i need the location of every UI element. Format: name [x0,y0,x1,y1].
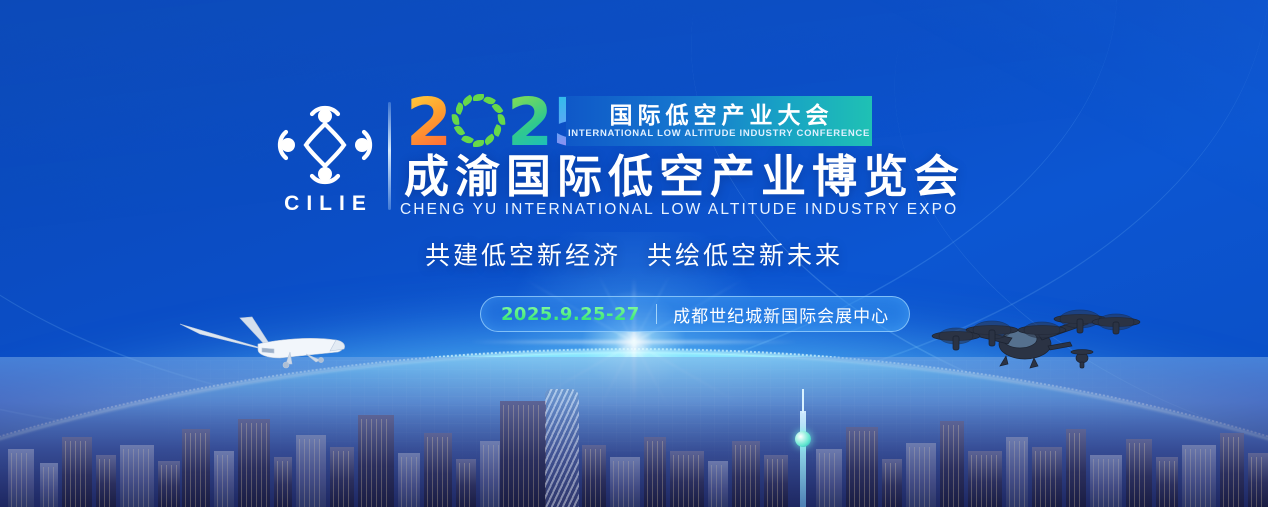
conference-band: 国际低空产业大会 INTERNATIONAL LOW ALTITUDE INDU… [566,96,872,146]
year-digit-3: 2 [507,92,552,154]
conference-title-cn: 国际低空产业大会 [605,102,834,128]
main-title-en: CHENG YU INTERNATIONAL LOW ALTITUDE INDU… [400,200,980,220]
event-banner: CILIE 2 25 国际低空产业大会 INTERNATIONAL L [0,0,1268,507]
year-digit-0-propeller-ring [451,92,507,150]
event-venue: 成都世纪城新国际会展中心 [657,302,889,327]
banner-content: CILIE 2 25 国际低空产业大会 INTERNATIONAL L [0,0,1268,507]
conference-title-en: INTERNATIONAL LOW ALTITUDE INDUSTRY CONF… [568,128,870,140]
date-venue-pill: 2025.9.25-27 成都世纪城新国际会展中心 [480,296,910,332]
slogan-left: 共建低空新经济 [425,242,621,270]
cilie-drone-logo-icon [272,100,378,190]
logo-divider [388,102,391,210]
slogan: 共建低空新经济共绘低空新未来 [0,240,1268,272]
event-date: 2025.9.25-27 [501,304,656,325]
logo-wordmark: CILIE [272,192,378,216]
year-digit-1: 2 [406,92,451,154]
slogan-right: 共绘低空新未来 [647,242,843,270]
main-title-cn: 成渝国际低空产业博览会 [398,152,978,202]
